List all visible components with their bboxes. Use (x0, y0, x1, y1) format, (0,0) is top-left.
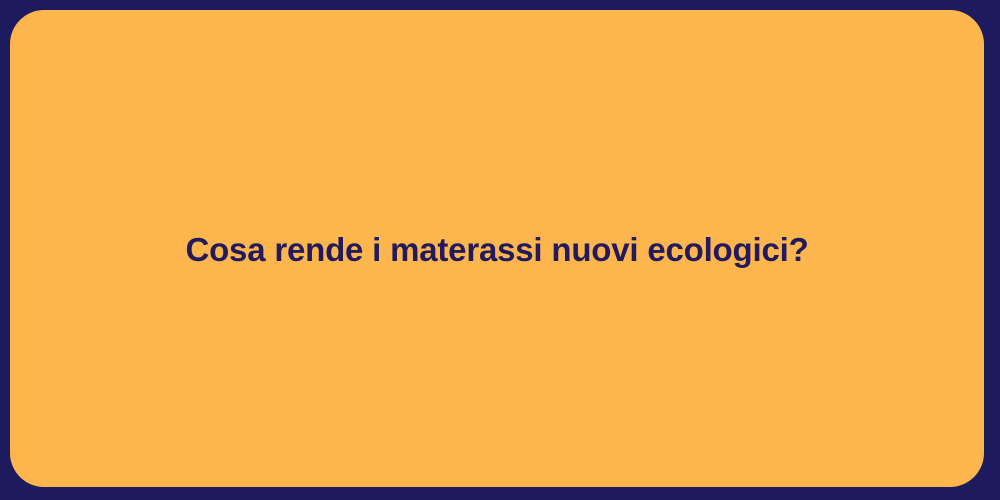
page-title: Cosa rende i materassi nuovi ecologici? (185, 229, 808, 270)
headline-card: Cosa rende i materassi nuovi ecologici? (10, 10, 984, 487)
card-content: Cosa rende i materassi nuovi ecologici? (10, 228, 984, 269)
page-canvas: Cosa rende i materassi nuovi ecologici? (0, 0, 1000, 500)
